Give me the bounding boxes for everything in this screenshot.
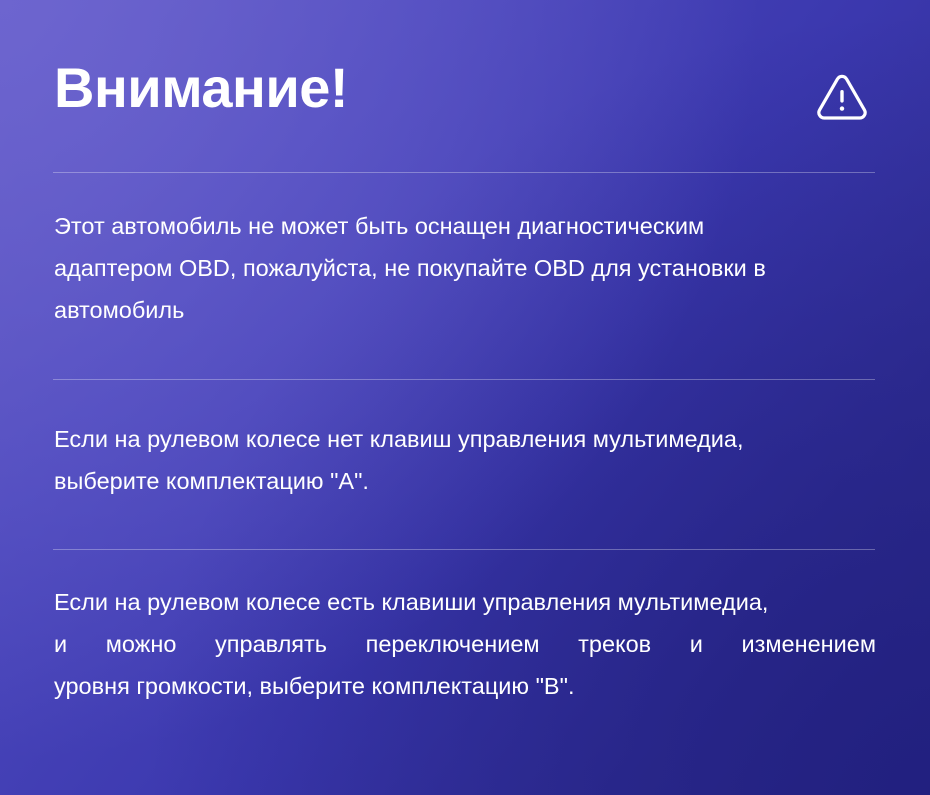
divider [53, 379, 875, 380]
notice-line: автомобиль [54, 289, 878, 331]
page-title: Внимание! [54, 55, 348, 121]
divider [53, 549, 875, 550]
notice-line: выберите комплектацию "A". [54, 460, 878, 502]
notice-line: уровня громкости, выберите комплектацию … [54, 665, 878, 707]
notice-line: Если на рулевом колесе есть клавиши упра… [54, 581, 878, 623]
notice-section-trim-a: Если на рулевом колесе нет клавиш управл… [54, 418, 878, 502]
warning-notice-card: Внимание! Этот автомобиль не может быть … [0, 0, 930, 795]
notice-line: адаптером OBD, пожалуйста, не покупайте … [54, 247, 878, 289]
notice-section-trim-b: Если на рулевом колесе есть клавиши упра… [54, 581, 878, 707]
notice-line: Если на рулевом колесе нет клавиш управл… [54, 418, 878, 460]
divider [53, 172, 875, 173]
notice-section-obd-warning: Этот автомобиль не может быть оснащен ди… [54, 205, 878, 331]
notice-line: Этот автомобиль не может быть оснащен ди… [54, 205, 878, 247]
warning-triangle-icon [815, 70, 869, 124]
notice-header: Внимание! [0, 0, 930, 172]
notice-line: и можно управлять переключением треков и… [54, 623, 876, 665]
